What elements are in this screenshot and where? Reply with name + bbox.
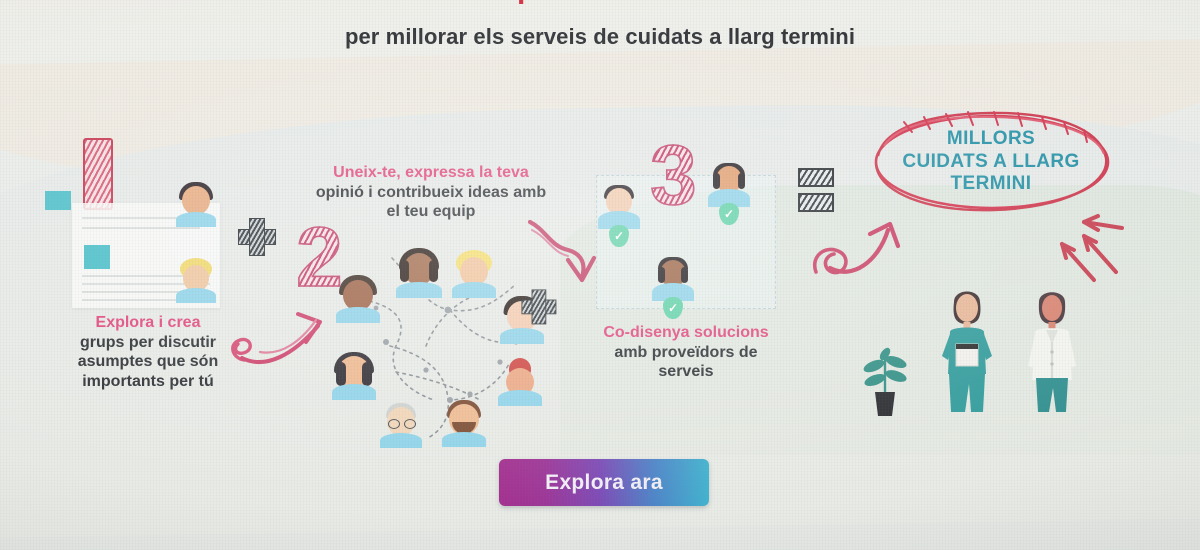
network-avatar — [396, 248, 442, 296]
step-1-number — [83, 138, 113, 210]
page-subtitle: per millorar els serveis de cuidats a ll… — [0, 24, 1200, 50]
step-3-avatar: ✓ — [652, 257, 694, 323]
step-2-line-1: opinió i contribueix ideas amb — [288, 183, 574, 203]
outcome-bubble-text: MILLORS CUIDATS A LLARG TERMINI — [868, 110, 1114, 214]
stacked-bars-icon — [798, 168, 834, 218]
person-nurse — [936, 282, 998, 419]
step-3-number: 3 — [650, 133, 697, 217]
potted-plant-icon — [862, 330, 908, 416]
document-thumb-icon — [84, 245, 110, 269]
page-title-text: Participa i fes-te a sentir — [424, 0, 776, 5]
step-3-highlight: Co-disenya solucions — [586, 323, 786, 343]
network-avatar — [176, 258, 216, 302]
check-icon: ✓ — [719, 203, 739, 225]
page-title-clipped: Participa i fes-te a sentir — [0, 0, 1200, 12]
document-tab-icon — [45, 191, 71, 210]
network-avatar — [452, 250, 496, 296]
infographic-screen: Participa i fes-te a sentir per millorar… — [0, 0, 1200, 550]
step-3-avatar: ✓ — [598, 185, 640, 251]
step-1-number-glyph — [83, 138, 113, 210]
step-3-avatar: ✓ — [708, 163, 750, 229]
medical-cross-icon — [521, 289, 554, 322]
medical-cross-icon — [238, 218, 274, 254]
network-avatar — [176, 182, 216, 226]
outcome-line-1: MILLORS — [947, 128, 1035, 151]
step-3-line-1: amb proveïdors de — [586, 343, 786, 363]
outcome-line-3: TERMINI — [951, 173, 1032, 196]
step-3-caption: Co-disenya solucions amb proveïdors de s… — [586, 323, 786, 382]
check-icon: ✓ — [609, 225, 629, 247]
network-avatar — [498, 358, 542, 406]
step-2-highlight: Uneix-te, expressa la teva — [288, 163, 574, 183]
person-doctor — [1022, 284, 1082, 419]
network-avatar — [442, 400, 486, 446]
check-icon: ✓ — [663, 297, 683, 319]
explore-now-button[interactable]: Explora ara — [499, 459, 709, 506]
network-avatar — [380, 403, 422, 447]
step-3-line-2: serveis — [586, 362, 786, 382]
arrow-step3-to-outcome — [806, 218, 916, 318]
network-avatar — [332, 352, 376, 398]
arrow-step1-to-step2 — [214, 298, 334, 378]
explore-now-button-label: Explora ara — [545, 471, 663, 495]
network-avatar — [336, 275, 380, 321]
outcome-bubble: MILLORS CUIDATS A LLARG TERMINI — [868, 110, 1114, 214]
outcome-line-2: CUIDATS A LLARG — [902, 151, 1079, 174]
